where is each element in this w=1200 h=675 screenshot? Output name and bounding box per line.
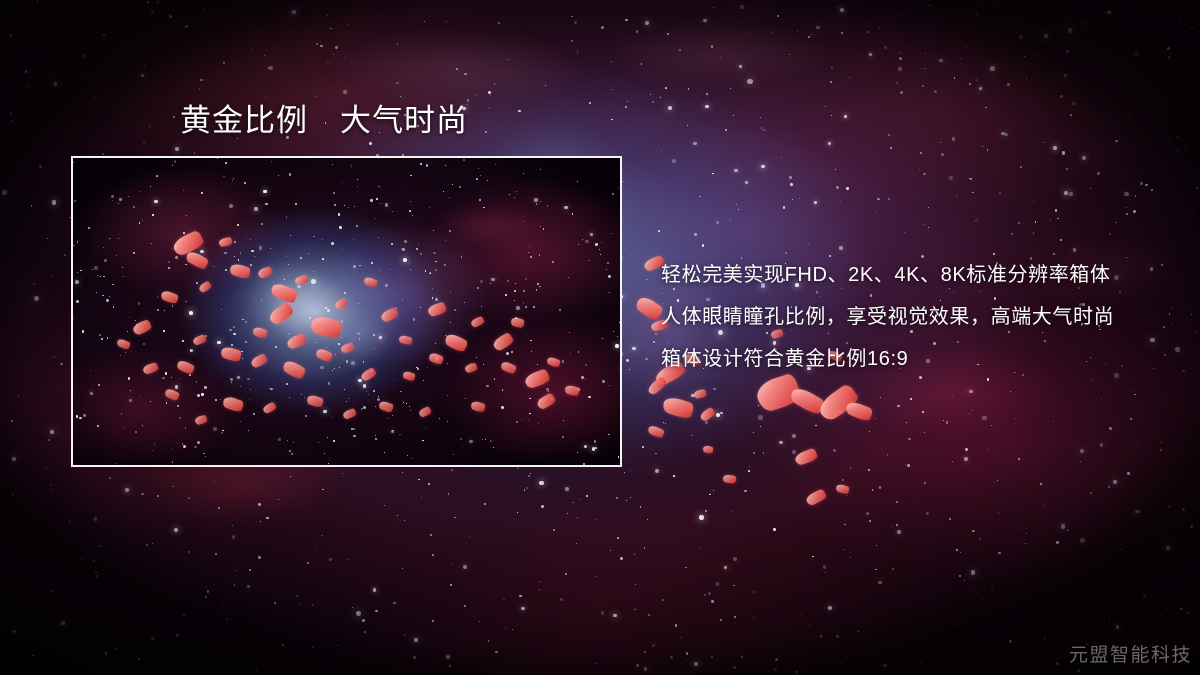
page-title: 黄金比例 大气时尚	[180, 101, 468, 141]
body-line-2: 人体眼睛瞳孔比例，享受视觉效果，高端大气时尚	[661, 296, 1181, 338]
body-line-3: 箱体设计符合黄金比例16:9	[661, 338, 1181, 380]
presentation-slide: 黄金比例 大气时尚 轻松完美实现FHD、2K、4K、8K标准分辨率箱体 人体眼睛…	[0, 0, 1200, 675]
watermark: 元盟智能科技	[1069, 640, 1192, 667]
panel-petals	[73, 158, 620, 465]
body-line-1: 轻松完美实现FHD、2K、4K、8K标准分辨率箱体	[661, 254, 1181, 296]
body-text-block: 轻松完美实现FHD、2K、4K、8K标准分辨率箱体 人体眼睛瞳孔比例，享受视觉效…	[661, 254, 1181, 380]
image-panel-frame	[71, 156, 622, 467]
